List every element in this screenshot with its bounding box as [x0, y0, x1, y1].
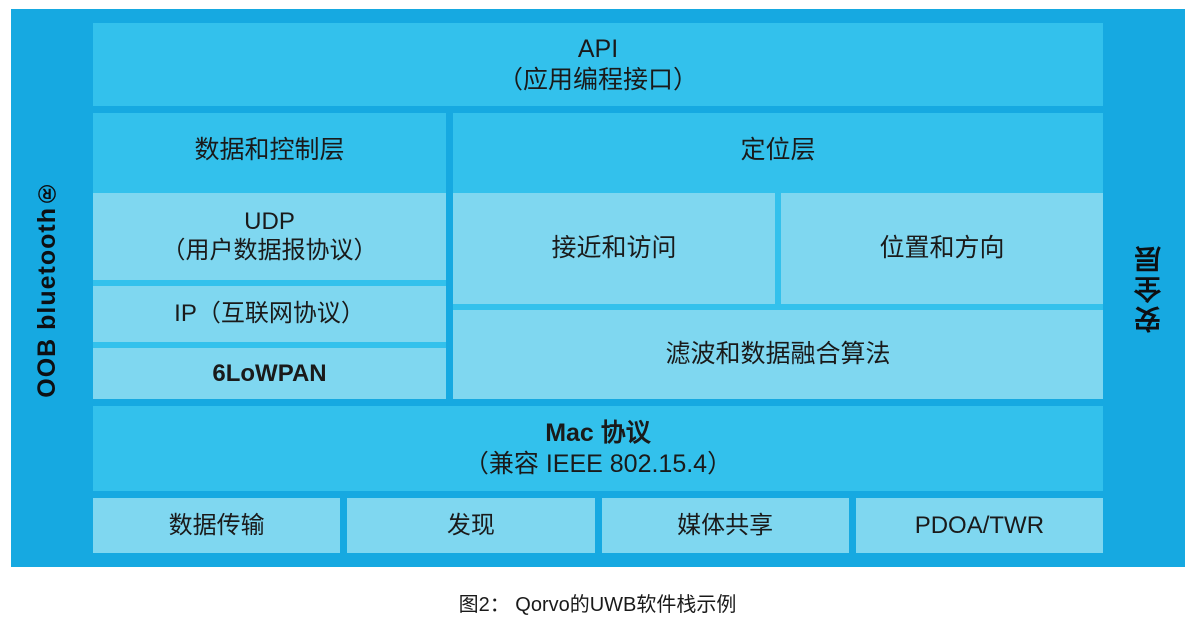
- oob-bluetooth-band-label: OOB bluetooth®: [33, 178, 62, 398]
- mac-protocol-line1: Mac 协议: [545, 418, 651, 449]
- stack-column: API （应用编程接口） 数据和控制层 UDP （用户数据报协议） IP（互联网…: [83, 9, 1113, 567]
- filtering-fusion-block: 滤波和数据融合算法: [453, 310, 1103, 399]
- figure-caption: 图2： Qorvo的UWB软件栈示例: [0, 588, 1195, 617]
- uwb-software-stack-diagram: OOB bluetooth® API （应用编程接口） 数据和控制层 UDP （…: [11, 9, 1185, 567]
- mac-protocol-line2: （兼容 IEEE 802.15.4）: [464, 449, 732, 480]
- screenshot-canvas: OOB bluetooth® API （应用编程接口） 数据和控制层 UDP （…: [0, 0, 1195, 630]
- positioning-sub-row: 接近和访问 位置和方向: [453, 193, 1103, 304]
- ip-block: IP（互联网协议）: [93, 286, 446, 342]
- feature-media-sharing: 媒体共享: [602, 498, 849, 553]
- data-control-layer-header: 数据和控制层: [93, 113, 446, 186]
- api-block: API （应用编程接口）: [93, 23, 1103, 106]
- api-block-line1: API: [578, 34, 618, 65]
- location-direction-block: 位置和方向: [781, 193, 1103, 304]
- udp-block-line2: （用户数据报协议）: [162, 236, 378, 265]
- feature-pdoa-twr: PDOA/TWR: [856, 498, 1103, 553]
- udp-block-line1: UDP: [244, 207, 295, 236]
- proximity-access-block: 接近和访问: [453, 193, 775, 304]
- positioning-layer-group: 定位层 接近和访问 位置和方向 滤波和数据融合算法: [453, 113, 1103, 399]
- udp-block: UDP （用户数据报协议）: [93, 193, 446, 280]
- feature-data-transfer: 数据传输: [93, 498, 340, 553]
- oob-bluetooth-band: OOB bluetooth®: [11, 9, 83, 567]
- data-control-layer-group: 数据和控制层 UDP （用户数据报协议） IP（互联网协议） 6LoWPAN: [93, 113, 446, 399]
- mac-features-row: 数据传输 发现 媒体共享 PDOA/TWR: [93, 498, 1103, 553]
- positioning-layer-header: 定位层: [453, 113, 1103, 186]
- lowpan-block: 6LoWPAN: [93, 348, 446, 400]
- middle-layers-row: 数据和控制层 UDP （用户数据报协议） IP（互联网协议） 6LoWPAN 定…: [93, 113, 1103, 399]
- security-layer-band: 安全层: [1113, 9, 1185, 567]
- security-layer-band-label: 安全层: [1130, 243, 1169, 333]
- feature-discovery: 发现: [347, 498, 594, 553]
- mac-protocol-block: Mac 协议 （兼容 IEEE 802.15.4）: [93, 406, 1103, 491]
- api-block-line2: （应用编程接口）: [498, 65, 698, 96]
